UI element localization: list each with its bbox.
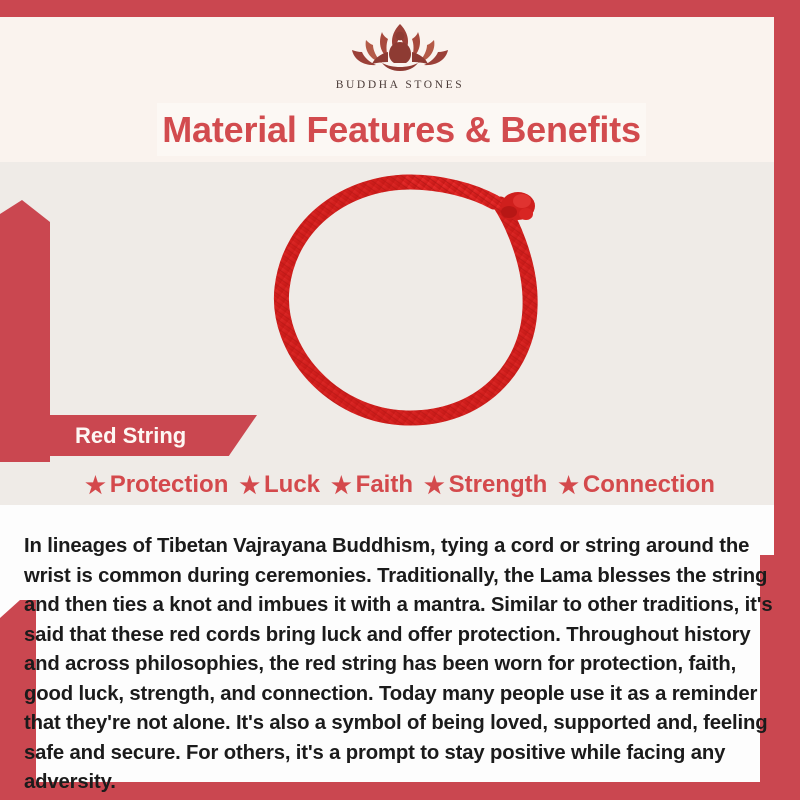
product-label-text: Red String (75, 423, 186, 449)
star-icon: ★ (331, 474, 352, 497)
feature-list: ★ Protection ★ Luck ★ Faith ★ Strength ★… (20, 468, 780, 502)
star-icon: ★ (558, 474, 579, 497)
feature-item-faith: ★ Faith (331, 471, 413, 499)
feature-label: Strength (449, 471, 548, 499)
headline-banner: Material Features & Benefits (157, 103, 646, 156)
star-icon: ★ (85, 474, 106, 497)
brand-logo: BUDDHA STONES (0, 18, 800, 100)
right-border-bar (774, 17, 800, 782)
feature-label: Faith (356, 471, 413, 499)
top-border-bar (0, 0, 800, 17)
product-image (250, 168, 572, 430)
poster-root: BUDDHA STONES Material Features & Benefi… (0, 0, 800, 800)
page-title: Material Features & Benefits (162, 109, 641, 151)
product-label-ribbon: Red String (22, 415, 257, 456)
feature-item-strength: ★ Strength (424, 471, 547, 499)
feature-item-connection: ★ Connection (558, 471, 715, 499)
feature-item-protection: ★ Protection (85, 471, 228, 499)
brand-name: BUDDHA STONES (336, 79, 464, 91)
feature-label: Luck (264, 471, 320, 499)
description-paragraph: In lineages of Tibetan Vajrayana Buddhis… (24, 532, 776, 798)
feature-label: Connection (583, 471, 715, 499)
feature-label: Protection (110, 471, 229, 499)
lotus-meditation-icon (330, 18, 470, 78)
star-icon: ★ (239, 474, 260, 497)
star-icon: ★ (424, 474, 445, 497)
feature-item-luck: ★ Luck (239, 471, 320, 499)
